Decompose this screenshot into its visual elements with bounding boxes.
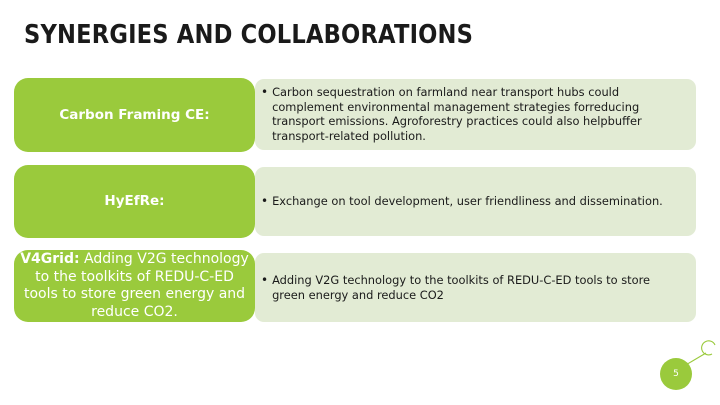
row-3-project-name: V4Grid: — [20, 251, 79, 267]
row-2-project-tag[interactable]: HyEfRe: — [14, 165, 255, 238]
row-1-description-text: Carbon sequestration on farmland near tr… — [272, 85, 661, 143]
bullet-point-icon: • — [261, 194, 272, 209]
bullet-point-icon: • — [261, 85, 272, 100]
row-3-project-tag[interactable]: V4Grid: Adding V2G technology to the too… — [14, 250, 255, 322]
row-2-bullet-item: • Exchange on tool development, user fri… — [261, 194, 681, 209]
row-3-description-text: Adding V2G technology to the toolkits of… — [272, 273, 666, 302]
slide-canvas: SYNERGIES AND COLLABORATIONS Carbon Fram… — [0, 0, 720, 405]
slide-number-badge: 5 — [660, 358, 692, 390]
page-title: SYNERGIES AND COLLABORATIONS — [24, 20, 581, 52]
bullet-point-icon: • — [261, 273, 272, 288]
row-2-project-label: HyEfRe: — [94, 193, 174, 210]
row-1-project-tag[interactable]: Carbon Framing CE: — [14, 78, 255, 152]
slide-number-text: 5 — [673, 369, 679, 379]
row-3-bullet-item: • Adding V2G technology to the toolkits … — [261, 273, 666, 302]
row-1-bullet-item: • Carbon sequestration on farmland near … — [261, 85, 661, 143]
row-2-description-text: Exchange on tool development, user frien… — [272, 194, 681, 209]
row-3-project-label: V4Grid: Adding V2G technology to the too… — [14, 251, 255, 321]
row-1-project-label: Carbon Framing CE: — [49, 107, 219, 124]
